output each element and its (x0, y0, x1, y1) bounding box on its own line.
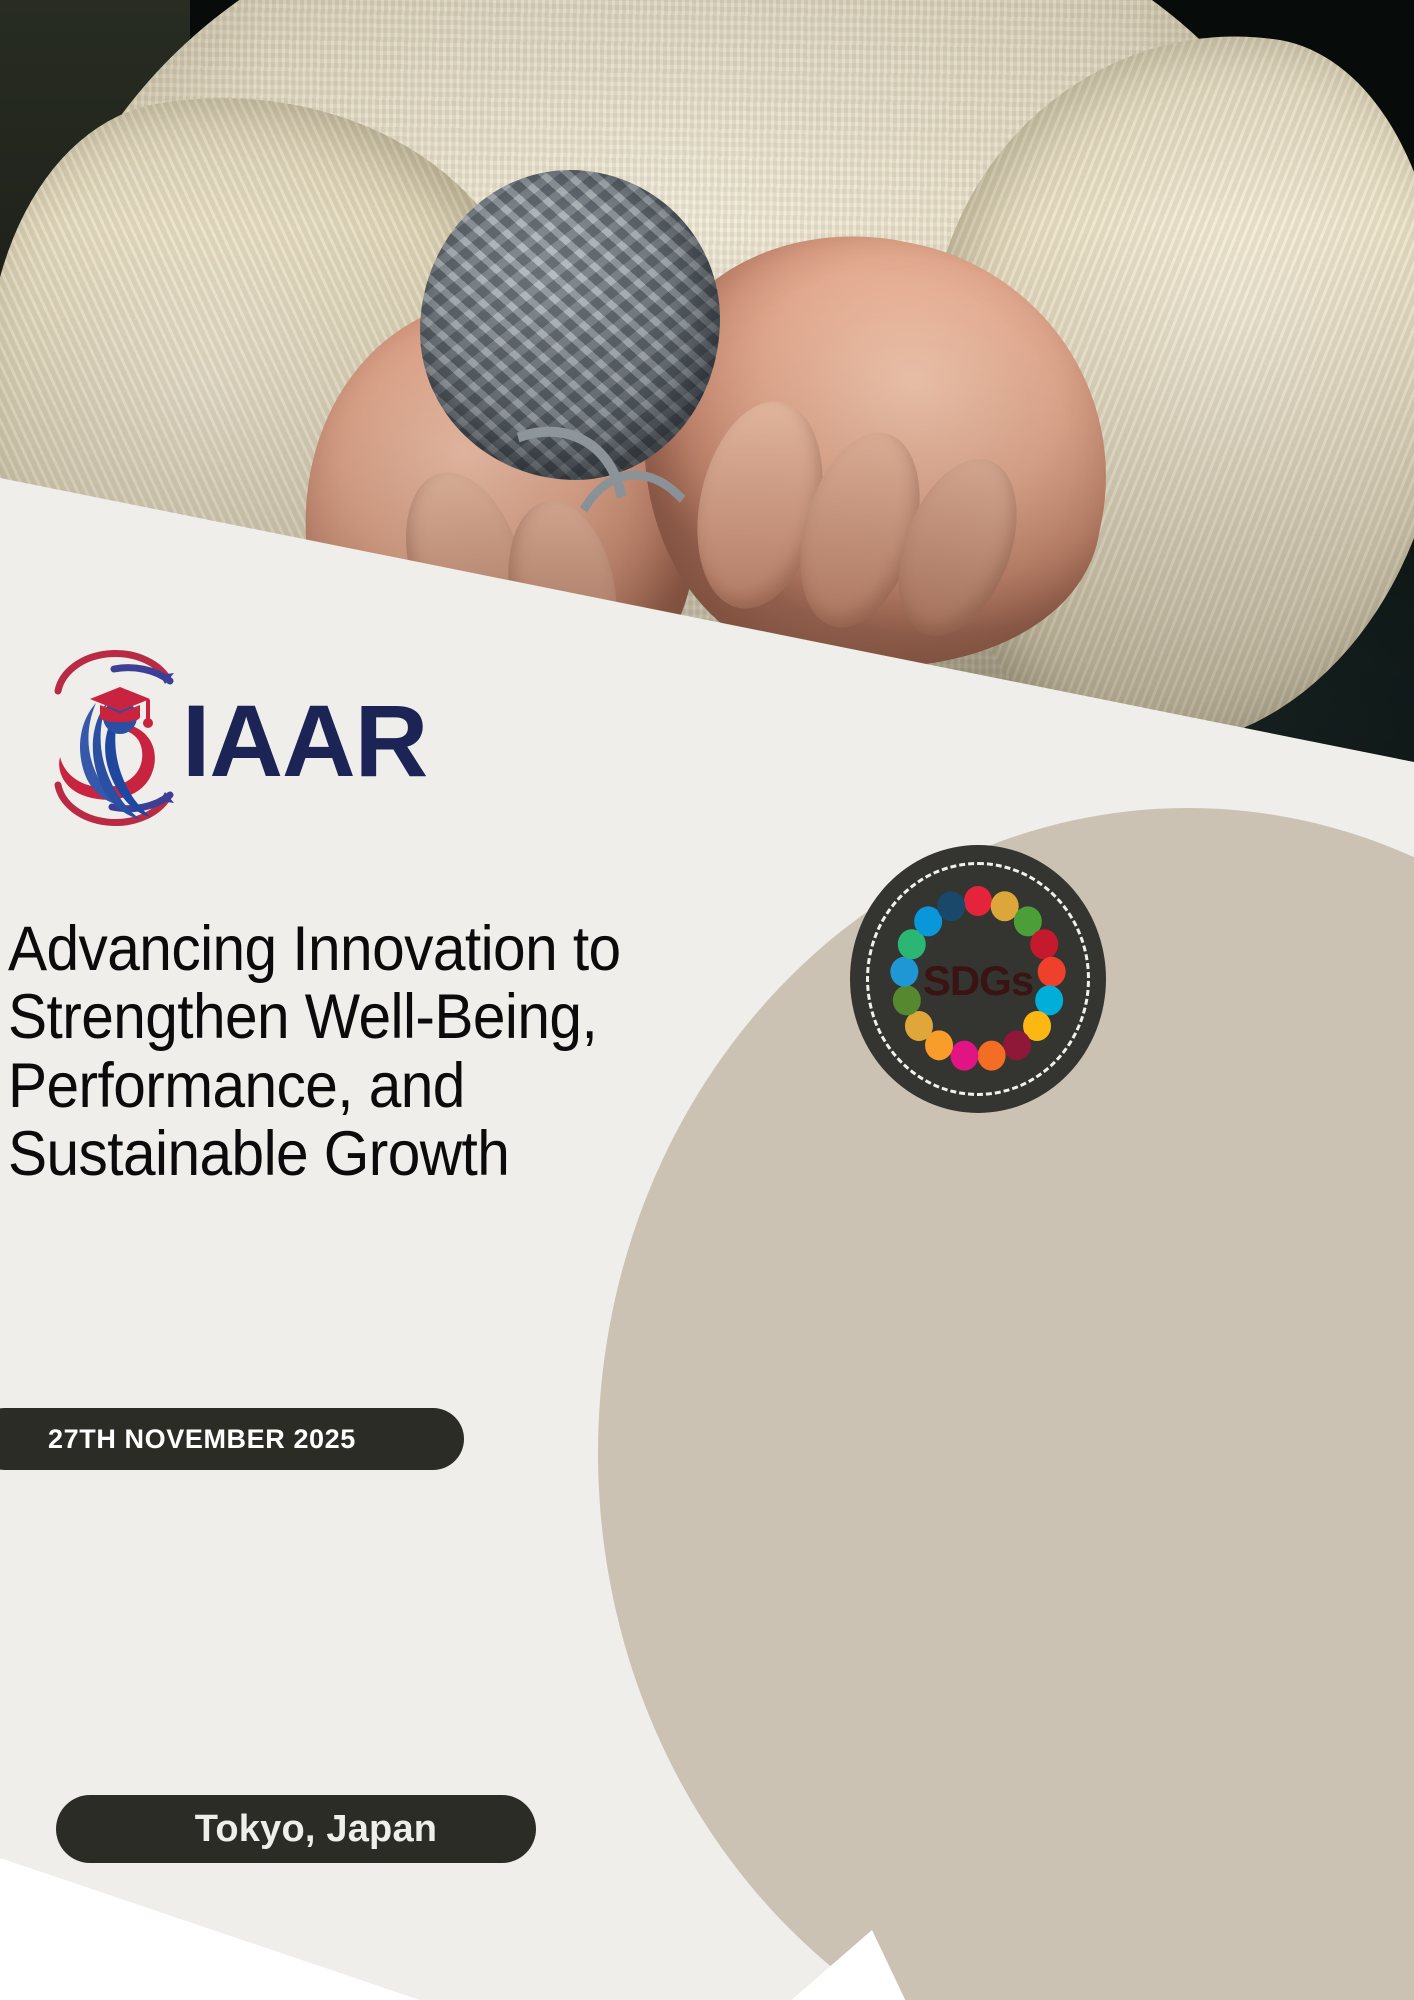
page-title: Advancing Innovation to Strengthen Well-… (8, 915, 743, 1188)
date-badge: 27TH NOVEMBER 2025 (0, 1408, 464, 1470)
sdg-label: SDGs (850, 957, 1106, 1005)
location-badge-label: Tokyo, Japan (195, 1808, 437, 1851)
brand-wordmark: IAAR (182, 690, 427, 792)
title-line-3: Performance, and (8, 1052, 743, 1120)
iaar-logo-mark (48, 645, 180, 830)
date-badge-label: 27TH NOVEMBER 2025 (48, 1424, 356, 1455)
title-line-2: Strengthen Well-Being, (8, 983, 743, 1051)
title-line-1: Advancing Innovation to (8, 915, 743, 983)
location-badge: Tokyo, Japan (56, 1795, 536, 1863)
brand-logo[interactable]: IAAR (48, 645, 427, 830)
conference-poster: IAAR Advancing Innovation to Strengthen … (0, 0, 1414, 2000)
title-line-4: Sustainable Growth (8, 1120, 743, 1188)
sdg-badge: SDGs (850, 845, 1106, 1113)
